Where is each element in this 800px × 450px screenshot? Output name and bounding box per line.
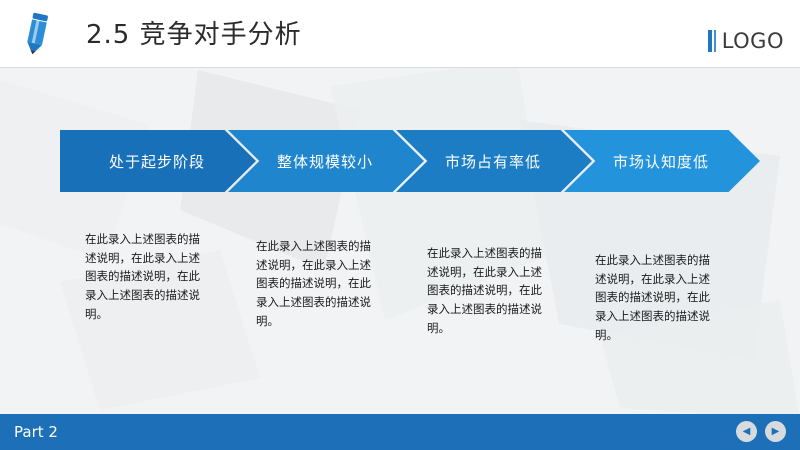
description-text-1: 在此录入上述图表的描述说明，在此录入上述图表的描述说明，在此录入上述图表的描述说…	[85, 230, 211, 323]
chevron-step-1[interactable]: 处于起步阶段	[60, 130, 256, 192]
part-label: Part 2	[14, 423, 58, 441]
chevron-step-4[interactable]: 市场认知度低	[564, 130, 760, 192]
description-text-4: 在此录入上述图表的描述说明，在此录入上述图表的描述说明，在此录入上述图表的描述说…	[595, 251, 721, 344]
header-divider	[0, 67, 800, 68]
description-text-2: 在此录入上述图表的描述说明，在此录入上述图表的描述说明，在此录入上述图表的描述说…	[256, 237, 382, 330]
prev-arrow-icon[interactable]: ◀	[736, 421, 757, 442]
next-arrow-icon[interactable]: ▶	[765, 421, 786, 442]
chevron-process-row: 处于起步阶段 整体规模较小 市场占有率低 市场认知度低	[60, 130, 760, 192]
logo: LOGO	[708, 28, 784, 54]
chevron-step-2[interactable]: 整体规模较小	[228, 130, 424, 192]
chevron-step-2-label: 整体规模较小	[277, 151, 373, 172]
chevron-step-4-label: 市场认知度低	[613, 151, 709, 172]
slide-header: 2.5 竞争对手分析 LOGO	[0, 0, 800, 68]
logo-bar-icon	[714, 30, 716, 52]
slide-footer: Part 2 ◀ ▶	[0, 414, 800, 450]
logo-text: LOGO	[722, 29, 784, 53]
page-title: 2.5 竞争对手分析	[86, 14, 302, 51]
description-text-3: 在此录入上述图表的描述说明，在此录入上述图表的描述说明，在此录入上述图表的描述说…	[427, 244, 553, 337]
chevron-step-3[interactable]: 市场占有率低	[396, 130, 592, 192]
navigation-buttons: ◀ ▶	[736, 421, 786, 442]
logo-bar-icon	[708, 30, 712, 52]
chevron-step-3-label: 市场占有率低	[445, 151, 541, 172]
slide: 2.5 竞争对手分析 LOGO 处于起步阶段 整体规模较小 市场占有率低 市场认…	[0, 0, 800, 450]
pencil-icon	[16, 12, 60, 58]
chevron-step-1-label: 处于起步阶段	[109, 151, 205, 172]
